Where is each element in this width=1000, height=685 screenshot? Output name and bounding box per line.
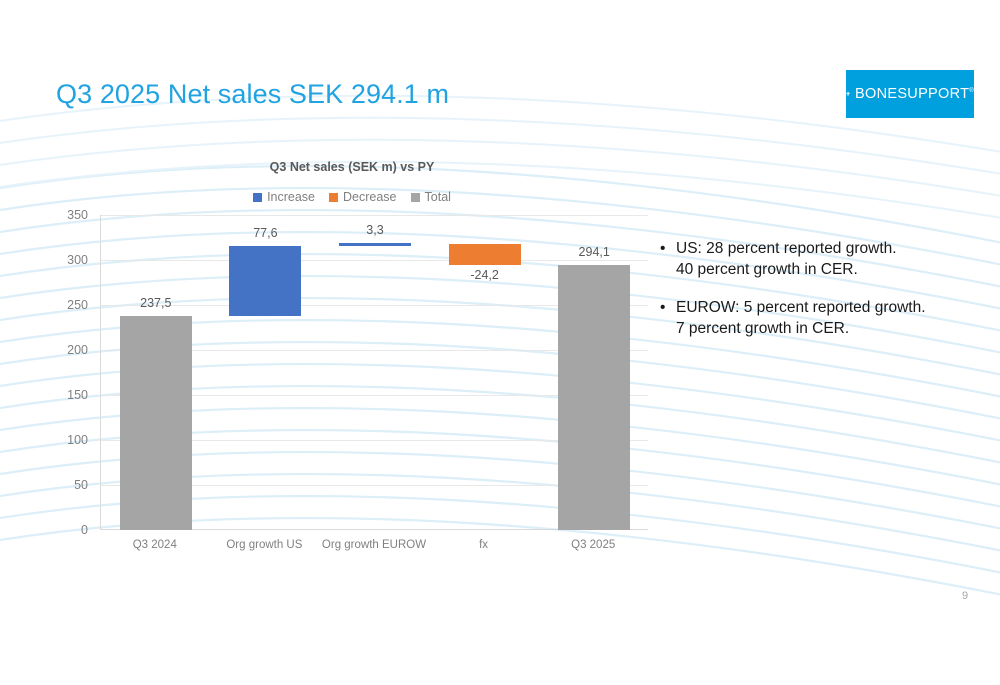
bullet-text: US: 28 percent reported growth. 40 perce… (676, 238, 985, 281)
bar-value-label: 77,6 (253, 226, 277, 240)
bullet-marker: • (660, 297, 676, 318)
waterfall-chart: Q3 Net sales (SEK m) vs PY Increase Decr… (56, 160, 648, 560)
slide-number: 9 (962, 590, 968, 602)
commentary-list: • US: 28 percent reported growth. 40 per… (660, 238, 985, 356)
y-axis-tick-label: 300 (67, 253, 88, 267)
plot-area-wrapper: 050100150200250300350 237,577,63,3-24,22… (56, 215, 648, 560)
legend-label-increase: Increase (267, 190, 315, 204)
list-item: • EUROW: 5 percent reported growth. 7 pe… (660, 297, 985, 340)
x-axis-tick-label: Org growth EUROW (322, 539, 426, 551)
legend-label-decrease: Decrease (343, 190, 397, 204)
chart-legend: Increase Decrease Total (56, 190, 648, 204)
legend-swatch-decrease (329, 193, 338, 202)
bar-total[interactable] (120, 316, 192, 530)
logo-wordmark: BONESUPPORT® (855, 86, 974, 102)
bar-increase[interactable] (339, 243, 411, 246)
plot-area: 237,577,63,3-24,2294,1 (100, 215, 648, 530)
x-axis-tick-label: Q3 2024 (133, 539, 177, 551)
chart-title: Q3 Net sales (SEK m) vs PY (56, 160, 648, 174)
y-axis-tick-label: 350 (67, 208, 88, 222)
legend-label-total: Total (425, 190, 451, 204)
y-axis-tick-label: 50 (74, 478, 88, 492)
bullet-line: 40 percent growth in CER. (676, 259, 985, 280)
bonesupport-diamond-icon (846, 82, 850, 106)
bullet-marker: • (660, 238, 676, 259)
legend-swatch-increase (253, 193, 262, 202)
y-axis-tick-label: 150 (67, 388, 88, 402)
bar-value-label: -24,2 (470, 268, 499, 282)
slide: Q3 2025 Net sales SEK 294.1 m BONESUPPOR… (0, 0, 1000, 685)
logo-content: BONESUPPORT® (846, 70, 974, 118)
bullet-text: EUROW: 5 percent reported growth. 7 perc… (676, 297, 985, 340)
legend-swatch-total (411, 193, 420, 202)
bar-value-label: 3,3 (366, 223, 383, 237)
gridline (101, 260, 648, 261)
y-axis-tick-label: 0 (81, 523, 88, 537)
bar-value-label: 237,5 (140, 296, 171, 310)
y-axis-tick-label: 250 (67, 298, 88, 312)
bullet-line: 7 percent growth in CER. (676, 318, 985, 339)
legend-item-increase: Increase (253, 190, 315, 204)
list-item: • US: 28 percent reported growth. 40 per… (660, 238, 985, 281)
x-axis-tick-label: Q3 2025 (571, 539, 615, 551)
logo-trademark: ® (969, 88, 974, 94)
bar-increase[interactable] (229, 246, 301, 316)
company-logo: BONESUPPORT® (846, 70, 974, 118)
legend-item-decrease: Decrease (329, 190, 397, 204)
bar-total[interactable] (558, 265, 630, 530)
gridline (101, 215, 648, 216)
logo-name: BONESUPPORT (855, 86, 969, 102)
bar-value-label: 294,1 (579, 245, 610, 259)
legend-item-total: Total (411, 190, 451, 204)
bar-decrease[interactable] (449, 244, 521, 266)
y-axis-tick-label: 100 (67, 433, 88, 447)
y-axis-tick-label: 200 (67, 343, 88, 357)
x-axis-tick-label: Org growth US (226, 539, 302, 551)
y-axis: 050100150200250300350 (56, 215, 94, 530)
bullet-line: US: 28 percent reported growth. (676, 238, 985, 259)
x-axis: Q3 2024Org growth USOrg growth EUROWfxQ3… (100, 533, 648, 559)
bullet-line: EUROW: 5 percent reported growth. (676, 297, 985, 318)
page-title: Q3 2025 Net sales SEK 294.1 m (56, 79, 449, 110)
x-axis-tick-label: fx (479, 539, 488, 551)
